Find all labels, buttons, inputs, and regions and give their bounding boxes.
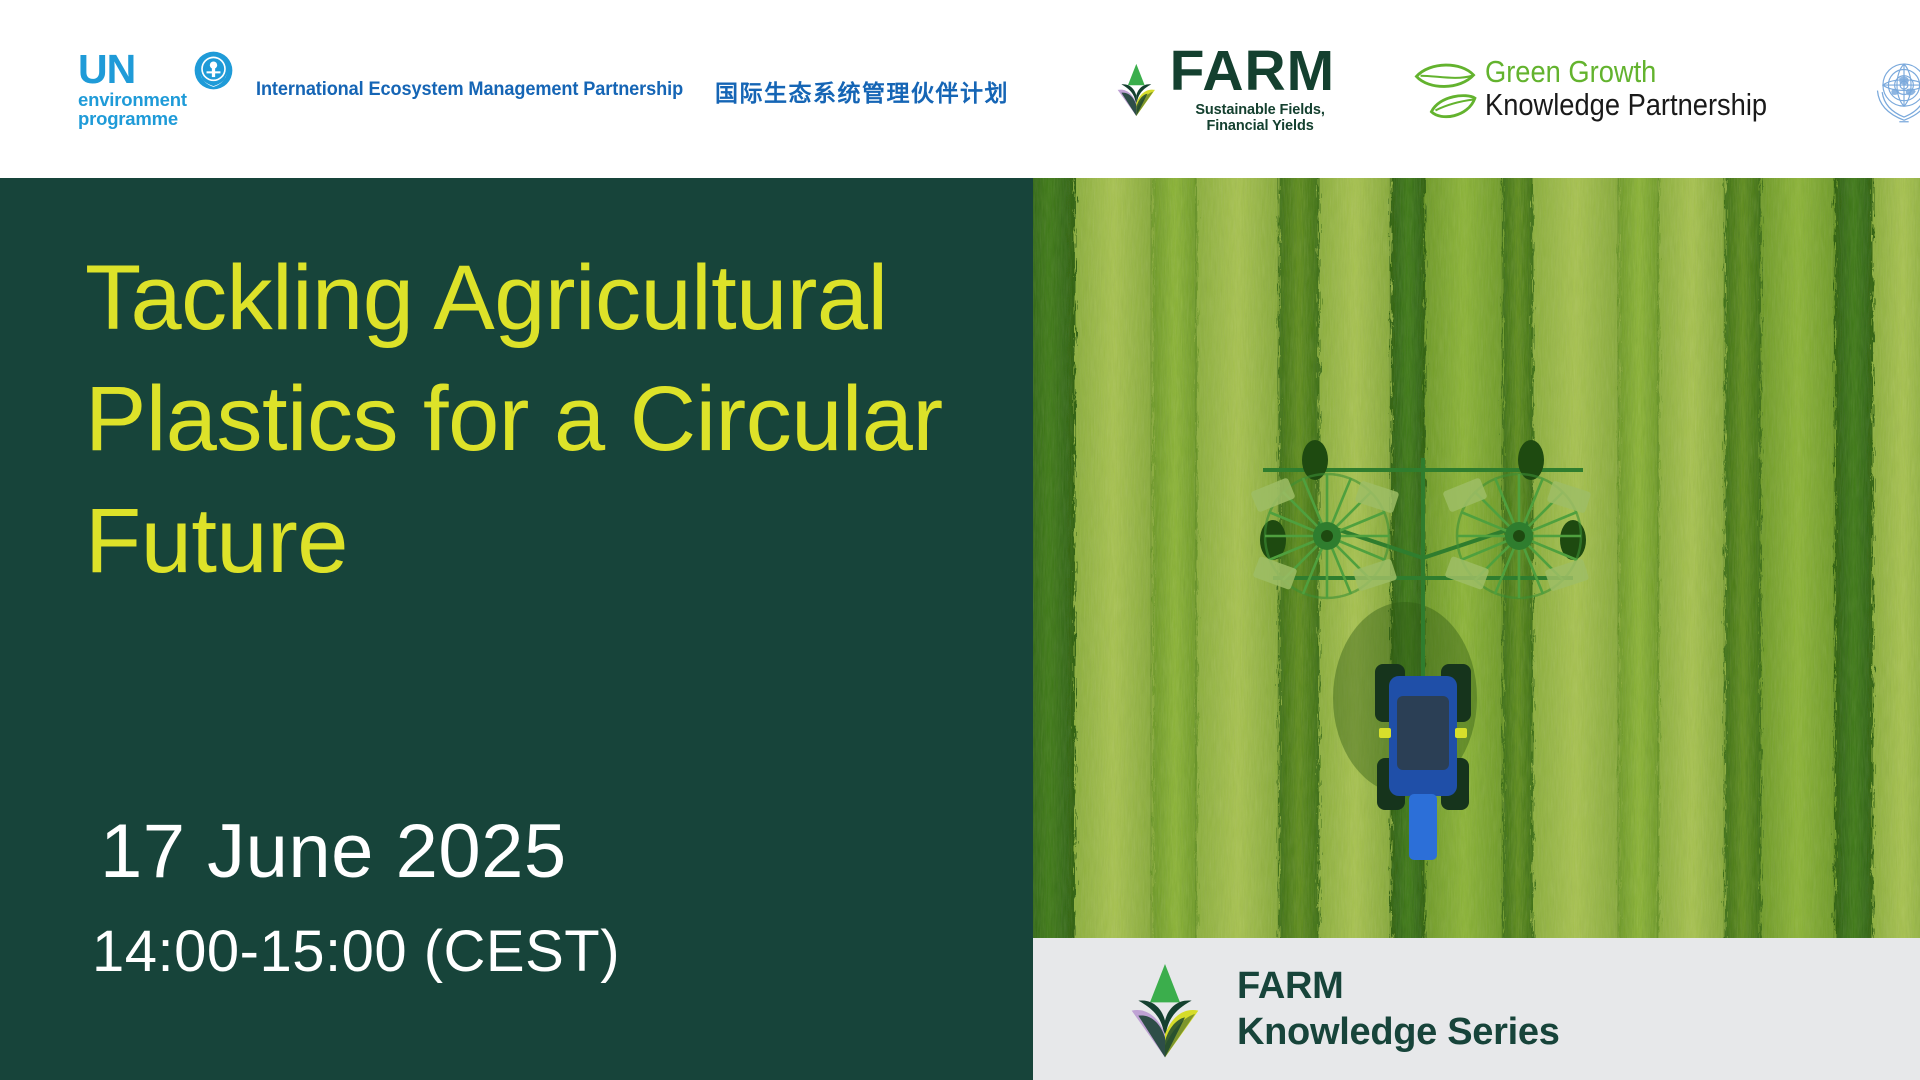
event-info-panel: Tackling Agricultural Plastics for a Cir… — [0, 178, 1033, 1080]
unep-programme-text: programme — [78, 110, 187, 129]
farm-wordmark: FARM — [1170, 44, 1351, 98]
logo-iemp: International Ecosystem Management Partn… — [256, 70, 1009, 108]
logo-unep: UN environment programme — [78, 49, 234, 129]
farm-wordmark-block: FARM Sustainable Fields, Financial Yield… — [1170, 44, 1351, 133]
iemp-chinese-text: 国际生态系统管理伙伴计划 — [715, 74, 1009, 108]
un-emblem-icon — [193, 50, 234, 91]
event-title: Tackling Agricultural Plastics for a Cir… — [85, 238, 945, 602]
event-date: 17 June 2025 — [100, 808, 567, 895]
farm-knowledge-series-footer: FARM Knowledge Series — [1033, 938, 1920, 1080]
logo-one-planet: One planet handle with care — [1865, 47, 1920, 131]
un-emblem-large-icon — [1865, 50, 1920, 128]
footer-wordmark: FARM Knowledge Series — [1237, 963, 1560, 1056]
event-time: 14:00-15:00 (CEST) — [92, 918, 620, 985]
logo-farm: FARM Sustainable Fields, Financial Yield… — [1113, 44, 1350, 133]
ggkp-wordmark: Green Growth Knowledge Partnership — [1485, 56, 1806, 121]
field-tractor-photo — [1033, 178, 1920, 938]
aerial-field-illustration — [1033, 178, 1920, 938]
footer-line2: Knowledge Series — [1237, 1009, 1560, 1055]
unep-un-text: UN — [78, 49, 187, 91]
ggkp-leaf-icon — [1411, 53, 1479, 125]
farm-sprout-icon — [1113, 52, 1160, 126]
logo-green-growth-knowledge-partnership: Green Growth Knowledge Partnership — [1411, 53, 1806, 125]
farm-sprout-footer-icon — [1123, 959, 1207, 1059]
footer-line1: FARM — [1237, 963, 1560, 1009]
ggkp-line2: Knowledge Partnership — [1485, 89, 1767, 122]
farm-tagline: Sustainable Fields, Financial Yields — [1170, 102, 1351, 134]
partner-logo-bar: UN environment programme International E… — [0, 0, 1920, 178]
webinar-poster: UN environment programme International E… — [0, 0, 1920, 1080]
unep-wordmark: UN environment programme — [78, 49, 187, 129]
iemp-english-text: International Ecosystem Management Partn… — [256, 78, 683, 101]
ggkp-line1: Green Growth — [1485, 56, 1767, 89]
